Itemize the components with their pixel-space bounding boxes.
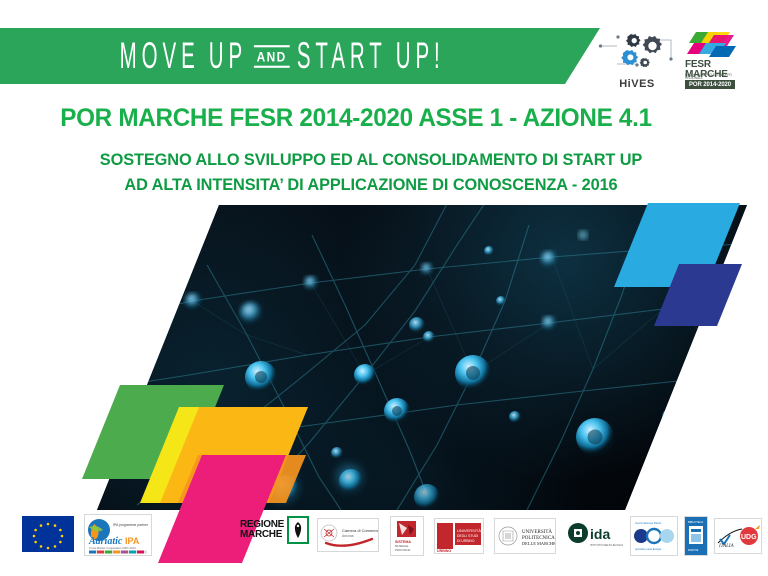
fesr-marche-logo: FESR MARCHE FONDO EUROPEO DI SVILUPPO RE… bbox=[684, 30, 746, 90]
adriatic-ipa-icon: IPA programme partner Adriatic IPA Cross… bbox=[85, 515, 151, 555]
ida-icon: ida ISTITUTO DELTA ECOLOGIA APPLICATA bbox=[567, 519, 623, 551]
svg-text:UNIVERSITÀ: UNIVERSITÀ bbox=[457, 528, 481, 533]
subtitle-line-1: SOSTEGNO ALLO SVILUPPO ED AL CONSOLIDAME… bbox=[100, 151, 642, 169]
svg-text:ITALIA: ITALIA bbox=[718, 544, 735, 549]
svg-text:Cross Border Cooperation 2007-: Cross Border Cooperation 2007-2013 bbox=[89, 546, 136, 550]
banner-word-move: MOVE bbox=[119, 34, 199, 78]
adriatic-ipa-logo: IPA programme partner Adriatic IPA Cross… bbox=[84, 514, 152, 556]
svg-text:Centro Europe Direct: Centro Europe Direct bbox=[635, 521, 661, 525]
regione-marche-emblem bbox=[287, 516, 309, 544]
svg-text:UNIVERSITÀ: UNIVERSITÀ bbox=[522, 529, 552, 535]
hives-logo-label: HiVES bbox=[597, 78, 677, 90]
regione-marche-text: REGIONE MARCHE bbox=[240, 520, 284, 540]
svg-text:PROVINCIA: PROVINCIA bbox=[395, 548, 411, 552]
svg-text:Ancona: Ancona bbox=[342, 534, 354, 538]
biblioteca-icon: BIBLIOTECA MARCHE bbox=[685, 517, 707, 555]
urbino-icon: UNIVERSITÀ DEGLI STUDI DI URBINO URBINO bbox=[435, 519, 483, 553]
camera-di-commercio-logo: Camera di Commercio Ancona bbox=[317, 518, 379, 552]
page-subtitle: SOSTEGNO ALLO SVILUPPO ED AL CONSOLIDAME… bbox=[4, 148, 739, 198]
europe-direct-icon: Centro Europe Direct sportello punto Eur… bbox=[631, 517, 677, 555]
camera-commercio-icon: Camera di Commercio Ancona bbox=[318, 519, 378, 551]
univpm-icon: UNIVERSITÀ POLITECNICA DELLE MARCHE bbox=[495, 519, 555, 553]
svg-text:IPA: IPA bbox=[125, 536, 140, 546]
svg-text:ISTITUTO DELTA ECOLOGIA APPLIC: ISTITUTO DELTA ECOLOGIA APPLICATA bbox=[590, 543, 623, 547]
eu-flag-logo bbox=[22, 516, 74, 552]
page-title: POR MARCHE FESR 2014-2020 ASSE 1 - AZION… bbox=[11, 104, 702, 133]
svg-text:UDG: UDG bbox=[741, 534, 757, 541]
footer-logo-strip: IPA programme partner Adriatic IPA Cross… bbox=[0, 506, 768, 562]
regione-line2: MARCHE bbox=[240, 529, 282, 540]
biblioteca-logo: BIBLIOTECA MARCHE bbox=[684, 516, 708, 556]
svg-text:URBINO: URBINO bbox=[437, 549, 451, 553]
svg-text:DELLE MARCHE: DELLE MARCHE bbox=[522, 541, 555, 546]
svg-text:BIBLIOTECA: BIBLIOTECA bbox=[688, 520, 704, 524]
hives-logo: HiVES bbox=[597, 28, 677, 90]
subtitle-line-2: AD ALTA INTENSITA’ DI APPLICAZIONE DI CO… bbox=[124, 176, 617, 194]
svg-text:ida: ida bbox=[590, 526, 610, 542]
svg-text:DEGLI STUDI: DEGLI STUDI bbox=[457, 534, 478, 538]
svg-text:MARCHE: MARCHE bbox=[688, 549, 699, 552]
universita-di-urbino-logo: UNIVERSITÀ DEGLI STUDI DI URBINO URBINO bbox=[434, 518, 484, 554]
woodpecker-icon bbox=[291, 520, 305, 540]
svg-text:IPA programme partner: IPA programme partner bbox=[113, 523, 149, 527]
title-banner: MOVE UP AND START UP! bbox=[0, 28, 600, 84]
fesr-por-badge: POR 2014-2020 bbox=[685, 80, 735, 89]
banner-word-up: UP bbox=[209, 34, 247, 78]
regione-marche-logo: REGIONE MARCHE bbox=[240, 516, 309, 544]
banner-word-upexcl: UP! bbox=[396, 34, 445, 78]
banner-and-badge: AND bbox=[254, 45, 290, 68]
eu-stars-icon bbox=[22, 516, 74, 552]
svg-text:sportello punto Europa: sportello punto Europa bbox=[635, 547, 662, 551]
udg-icon: ITALIA UDG bbox=[715, 519, 761, 553]
fesr-chevrons-icon bbox=[684, 30, 742, 62]
universita-politecnica-delle-marche-logo: UNIVERSITÀ POLITECNICA DELLE MARCHE bbox=[494, 518, 556, 554]
presentation-slide: MOVE UP AND START UP! bbox=[0, 0, 768, 576]
sistema-museale-icon: SISTEMA MUSEALE PROVINCIA bbox=[391, 517, 423, 555]
ida-logo: ida ISTITUTO DELTA ECOLOGIA APPLICATA bbox=[566, 518, 624, 552]
banner-word-start: START bbox=[297, 34, 387, 78]
svg-text:Camera di Commercio: Camera di Commercio bbox=[342, 528, 378, 533]
banner-text: MOVE UP AND START UP! bbox=[119, 34, 444, 78]
svg-text:DI URBINO: DI URBINO bbox=[457, 539, 475, 543]
centro-europe-direct-logo: Centro Europe Direct sportello punto Eur… bbox=[630, 516, 678, 556]
sistema-museale-logo: SISTEMA MUSEALE PROVINCIA bbox=[390, 516, 424, 556]
udg-logo: ITALIA UDG bbox=[714, 518, 762, 554]
gears-icon bbox=[597, 28, 677, 78]
